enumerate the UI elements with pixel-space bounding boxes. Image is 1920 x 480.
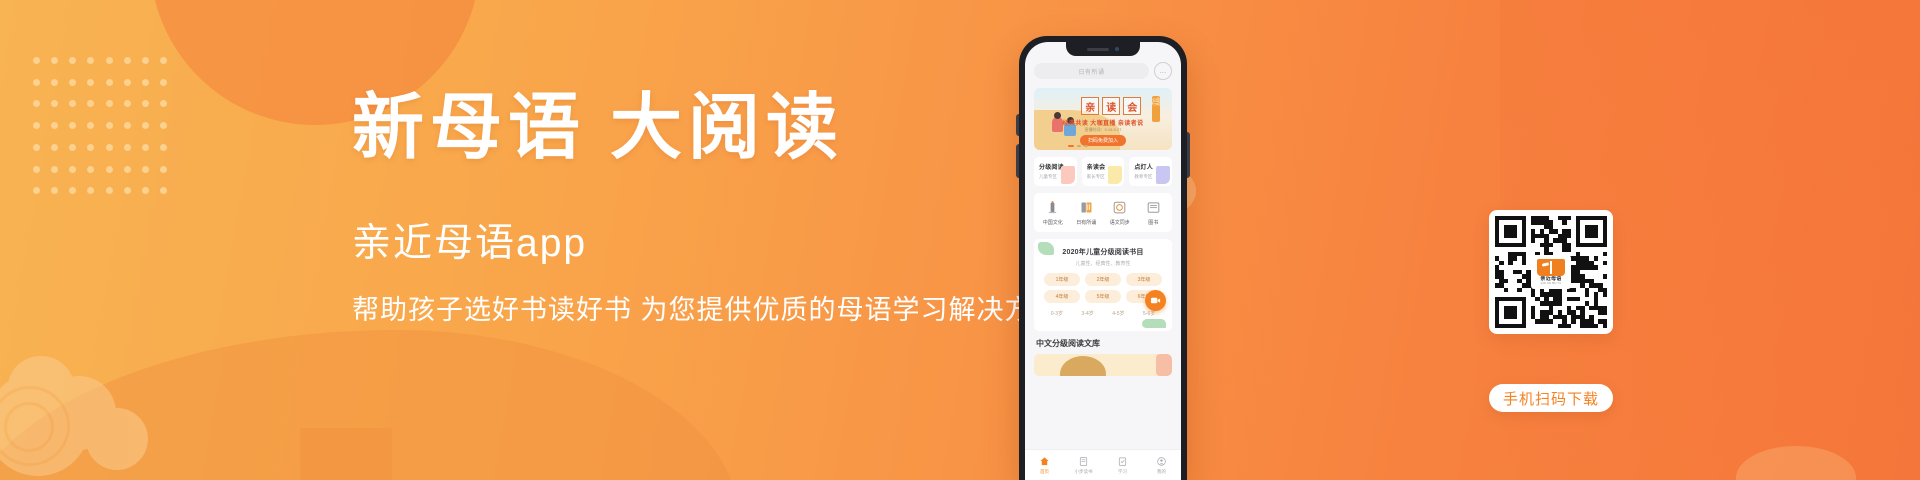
booklist-title: 2020年儿童分级阅读书目 <box>1040 247 1166 257</box>
grade-pill[interactable]: 5年级 <box>1085 290 1121 303</box>
hero-title-char-2: 读 <box>1102 97 1120 115</box>
grade-pill[interactable]: 4年级 <box>1044 290 1080 303</box>
recite-icon <box>1079 200 1094 215</box>
decor-dot-grid <box>33 57 178 209</box>
hero-carousel-dots[interactable] <box>1068 145 1088 147</box>
download-button[interactable]: 手机扫码下载 <box>1489 384 1613 412</box>
hero-title: 亲 读 会 <box>1081 97 1141 115</box>
library-title: 中文分级阅读文库 <box>1036 338 1172 349</box>
search-input[interactable]: 日有所诵 <box>1034 63 1149 79</box>
hero-title-char-1: 亲 <box>1081 97 1099 115</box>
search-placeholder: 日有所诵 <box>1078 67 1104 76</box>
age-pill[interactable]: 4-5岁 <box>1106 307 1132 320</box>
book-logo-icon <box>1537 259 1565 276</box>
quick-icon-row: 中国文化 日有所诵 语文同步 <box>1034 193 1172 232</box>
banner-app-name: 亲近母语app <box>352 224 1012 263</box>
hero-subtitle: 经典共读 大咖直播 亲读者说 <box>1063 118 1144 127</box>
tab-label: 学习 <box>1118 469 1127 475</box>
quick-item-recite[interactable]: 日有所诵 <box>1070 200 1104 226</box>
banner-tagline: 帮助孩子选好书读好书 为您提供优质的母语学习解决方案 <box>352 297 1012 324</box>
hero-side-tag: 公益行动 <box>1152 96 1160 122</box>
phone-side-button <box>1187 132 1190 178</box>
leaf-decor-icon <box>1038 242 1054 255</box>
quick-item-books[interactable]: 图书 <box>1137 200 1171 226</box>
bottom-tabbar: 首页 小步读书 学习 我的 <box>1025 449 1181 480</box>
qr-logo-text: 亲近母语 <box>1540 277 1561 282</box>
home-icon <box>1039 456 1050 467</box>
quick-item-china-culture[interactable]: 中国文化 <box>1036 200 1070 226</box>
china-culture-icon <box>1045 200 1060 215</box>
tab-label: 小步读书 <box>1075 469 1093 475</box>
book-icon <box>1146 200 1161 215</box>
banner-copy: 新母语 大阅读 亲近母语app 帮助孩子选好书读好书 为您提供优质的母语学习解决… <box>352 92 1012 324</box>
library-card[interactable] <box>1034 354 1172 376</box>
hero-child-red <box>1052 117 1063 132</box>
booklist-subtitle: 儿童性、经典性、教育性 <box>1040 260 1166 267</box>
hero-banner[interactable]: 亲 读 会 公益行动 经典共读 大咖直播 亲读者说 直播时间：9.16-9.27… <box>1034 88 1172 150</box>
grade-pill[interactable]: 2年级 <box>1085 273 1121 286</box>
tab-reading[interactable]: 小步读书 <box>1064 456 1103 475</box>
decor-cloud-bottom-left <box>0 356 196 476</box>
tab-home[interactable]: 首页 <box>1025 456 1064 475</box>
tab-label: 我的 <box>1157 469 1166 475</box>
qr-center-logo: 亲近母语 QIN JIN MU YU <box>1531 255 1571 289</box>
age-pill[interactable]: 0-3岁 <box>1044 307 1070 320</box>
leaf-decor-icon <box>1142 319 1166 328</box>
quick-item-label: 日有所诵 <box>1076 219 1096 226</box>
hero-child-red-head <box>1054 112 1061 119</box>
qr-code: 亲近母语 QIN JIN MU YU <box>1489 210 1613 334</box>
phone-screen: 日有所诵 … 亲 读 会 公益行动 经典共读 大咖直播 <box>1025 42 1181 480</box>
category-card-teacher[interactable]: 点灯人 教师专区 <box>1129 157 1172 186</box>
library-arc-decor <box>1060 356 1106 376</box>
tab-profile[interactable]: 我的 <box>1142 456 1181 475</box>
booklist-section: 2020年儿童分级阅读书目 儿童性、经典性、教育性 1年级 2年级 3年级 4年… <box>1034 239 1172 331</box>
category-cards: 分级阅读 儿童专区 亲读会 家长专区 点灯人 教师专区 <box>1034 157 1172 186</box>
sync-icon <box>1112 200 1127 215</box>
reading-icon <box>1078 456 1089 467</box>
age-pill[interactable]: 3-4岁 <box>1075 307 1101 320</box>
study-icon <box>1117 456 1128 467</box>
phone-notch <box>1066 42 1140 56</box>
profile-icon <box>1156 456 1167 467</box>
message-icon[interactable]: … <box>1154 62 1172 80</box>
tab-label: 首页 <box>1040 469 1049 475</box>
quick-item-label: 中国文化 <box>1043 219 1063 226</box>
category-card-parent-club[interactable]: 亲读会 家长专区 <box>1082 157 1125 186</box>
hero-title-char-3: 会 <box>1123 97 1141 115</box>
promo-banner: 新母语 大阅读 亲近母语app 帮助孩子选好书读好书 为您提供优质的母语学习解决… <box>0 0 1920 480</box>
quick-item-label: 图书 <box>1148 219 1158 226</box>
video-play-icon[interactable] <box>1145 290 1166 311</box>
tab-study[interactable]: 学习 <box>1103 456 1142 475</box>
grade-pill[interactable]: 1年级 <box>1044 273 1080 286</box>
banner-headline: 新母语 大阅读 <box>352 92 1012 164</box>
grade-row-1: 1年级 2年级 3年级 <box>1040 273 1166 286</box>
app-searchbar: 日有所诵 … <box>1034 62 1172 80</box>
phone-mockup: 日有所诵 … 亲 读 会 公益行动 经典共读 大咖直播 <box>1019 36 1187 480</box>
person-icon <box>1156 166 1170 184</box>
note-icon <box>1108 166 1122 184</box>
bookmark-icon <box>1061 166 1075 184</box>
category-card-graded-reading[interactable]: 分级阅读 儿童专区 <box>1034 157 1077 186</box>
quick-item-sync[interactable]: 语文同步 <box>1103 200 1137 226</box>
quick-item-label: 语文同步 <box>1110 219 1130 226</box>
qr-logo-pinyin: QIN JIN MU YU <box>1541 283 1562 286</box>
grade-pill[interactable]: 3年级 <box>1126 273 1162 286</box>
library-tab-decor <box>1156 354 1172 376</box>
decor-block-bottom <box>300 428 392 480</box>
hero-date: 直播时间：9.16-9.27 <box>1085 127 1122 133</box>
